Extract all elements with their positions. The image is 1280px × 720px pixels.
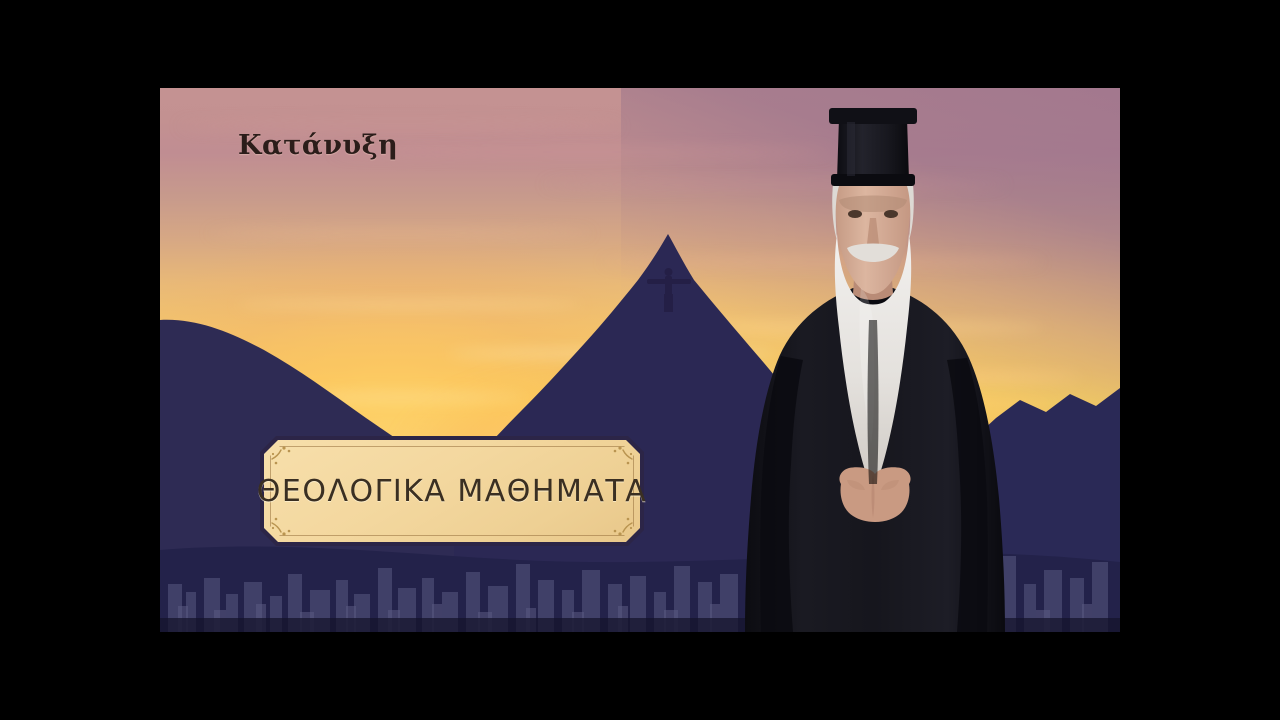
plaque-title-text: ΘΕΟΛΟΓΙΚΑ ΜΑΘΗΜΑΤΑ bbox=[260, 436, 644, 546]
cassock-seam bbox=[868, 320, 879, 484]
eye-left bbox=[848, 210, 862, 218]
priest-figure bbox=[735, 88, 1015, 632]
video-content-frame: Κατάνυξη bbox=[160, 88, 1120, 632]
channel-watermark: Κατάνυξη bbox=[238, 130, 398, 161]
eye-right bbox=[884, 210, 898, 218]
title-plaque: ΘΕΟΛΟΓΙΚΑ ΜΑΘΗΜΑΤΑ bbox=[260, 436, 644, 546]
letterbox-bar-top bbox=[0, 0, 1280, 88]
pillarbox-bar-right bbox=[1120, 0, 1280, 720]
screenshot-stage: Κατάνυξη bbox=[0, 0, 1280, 720]
letterbox-bar-bottom bbox=[0, 632, 1280, 720]
kalimavkion-hat bbox=[829, 108, 917, 186]
pillarbox-bar-left bbox=[0, 0, 160, 720]
